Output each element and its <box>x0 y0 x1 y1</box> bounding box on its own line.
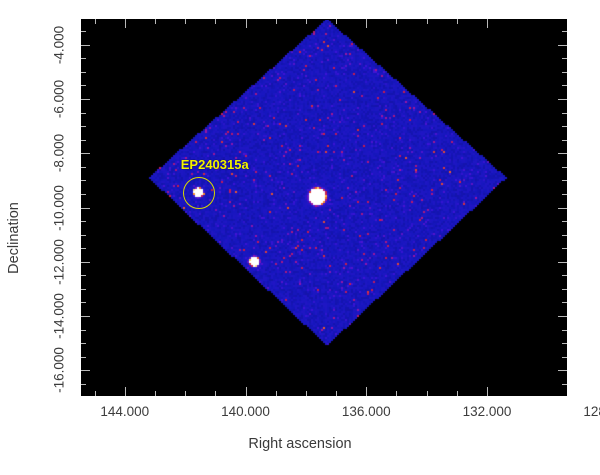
y-tick-minor <box>81 275 86 276</box>
y-tick-minor-right <box>562 58 567 59</box>
y-tick-minor <box>81 85 86 86</box>
y-tick-minor <box>81 72 86 73</box>
y-tick-major-right <box>558 153 567 154</box>
y-tick-label: -8.000 <box>52 134 67 172</box>
y-tick-minor-right <box>562 384 567 385</box>
x-tick-major-top <box>487 19 488 28</box>
y-tick-minor-right <box>562 357 567 358</box>
y-tick-minor <box>81 180 86 181</box>
y-tick-minor <box>81 113 86 114</box>
y-tick-minor <box>81 357 86 358</box>
x-tick-minor <box>457 391 458 396</box>
y-tick-label: -10.000 <box>52 185 67 231</box>
y-tick-minor <box>81 343 86 344</box>
x-tick-minor <box>215 391 216 396</box>
y-tick-minor-right <box>562 330 567 331</box>
y-tick-minor <box>81 167 86 168</box>
y-tick-minor-right <box>562 167 567 168</box>
x-tick-minor <box>306 391 307 396</box>
x-tick-major-top <box>366 19 367 28</box>
x-tick-minor <box>185 391 186 396</box>
y-tick-minor-right <box>562 180 567 181</box>
y-tick-minor-right <box>562 221 567 222</box>
x-tick-major <box>487 387 488 396</box>
y-tick-minor-right <box>562 194 567 195</box>
y-tick-minor-right <box>562 113 567 114</box>
y-tick-minor <box>81 289 86 290</box>
y-tick-minor <box>81 302 86 303</box>
sky-image-canvas <box>81 19 567 396</box>
x-tick-minor-top <box>95 19 96 24</box>
x-tick-minor <box>155 391 156 396</box>
y-tick-minor-right <box>562 85 567 86</box>
y-tick-minor <box>81 58 86 59</box>
x-tick-minor <box>95 391 96 396</box>
y-tick-label: -14.000 <box>52 293 67 339</box>
x-tick-label: 136.000 <box>342 404 391 419</box>
x-tick-major <box>366 387 367 396</box>
y-tick-minor-right <box>562 31 567 32</box>
y-tick-minor <box>81 221 86 222</box>
x-axis-title: Right ascension <box>0 436 600 452</box>
y-tick-minor-right <box>562 289 567 290</box>
x-tick-label: 128.000 <box>583 404 600 419</box>
y-tick-minor <box>81 330 86 331</box>
y-tick-major-right <box>558 99 567 100</box>
y-tick-minor <box>81 194 86 195</box>
x-tick-major-top <box>125 19 126 28</box>
x-tick-label: 144.000 <box>100 404 149 419</box>
y-tick-label: -4.000 <box>52 26 67 64</box>
x-tick-label: 140.000 <box>221 404 270 419</box>
y-tick-major <box>81 208 90 209</box>
x-tick-minor-top <box>457 19 458 24</box>
y-tick-minor-right <box>562 235 567 236</box>
y-tick-major-right <box>558 208 567 209</box>
y-tick-minor <box>81 248 86 249</box>
x-tick-major <box>125 387 126 396</box>
y-tick-major <box>81 316 90 317</box>
y-tick-minor-right <box>562 126 567 127</box>
y-tick-minor-right <box>562 275 567 276</box>
y-tick-major <box>81 99 90 100</box>
x-tick-major <box>246 387 247 396</box>
y-tick-minor <box>81 140 86 141</box>
y-tick-major <box>81 370 90 371</box>
y-tick-minor <box>81 126 86 127</box>
x-tick-minor-top <box>276 19 277 24</box>
y-tick-major-right <box>558 45 567 46</box>
x-tick-minor-top <box>185 19 186 24</box>
source-marker-circle-ep240315a <box>183 177 215 209</box>
y-tick-minor <box>81 384 86 385</box>
x-tick-minor-top <box>306 19 307 24</box>
x-tick-major-top <box>246 19 247 28</box>
sky-image-plot-area: EP240315a <box>81 19 567 396</box>
y-tick-label: -6.000 <box>52 80 67 118</box>
x-tick-minor <box>336 391 337 396</box>
x-tick-minor-top <box>427 19 428 24</box>
y-tick-label: -16.000 <box>52 347 67 393</box>
y-tick-minor <box>81 235 86 236</box>
x-tick-minor <box>396 391 397 396</box>
y-tick-minor-right <box>562 248 567 249</box>
y-tick-minor-right <box>562 343 567 344</box>
x-tick-minor-top <box>336 19 337 24</box>
y-tick-major-right <box>558 370 567 371</box>
x-tick-minor-top <box>155 19 156 24</box>
y-tick-minor <box>81 31 86 32</box>
y-tick-minor-right <box>562 140 567 141</box>
y-axis-title: Declination <box>6 202 22 274</box>
x-tick-minor-top <box>396 19 397 24</box>
y-tick-major <box>81 45 90 46</box>
source-label-ep240315a: EP240315a <box>181 157 249 172</box>
y-tick-label: -12.000 <box>52 239 67 285</box>
x-tick-label: 132.000 <box>463 404 512 419</box>
y-tick-minor-right <box>562 302 567 303</box>
y-tick-major-right <box>558 316 567 317</box>
y-tick-major-right <box>558 262 567 263</box>
y-tick-minor-right <box>562 72 567 73</box>
x-tick-minor <box>276 391 277 396</box>
x-tick-minor-top <box>215 19 216 24</box>
y-tick-major <box>81 153 90 154</box>
y-tick-major <box>81 262 90 263</box>
astronomy-sky-map-figure: EP240315a Right ascension Declination 14… <box>0 0 600 475</box>
x-tick-minor <box>427 391 428 396</box>
